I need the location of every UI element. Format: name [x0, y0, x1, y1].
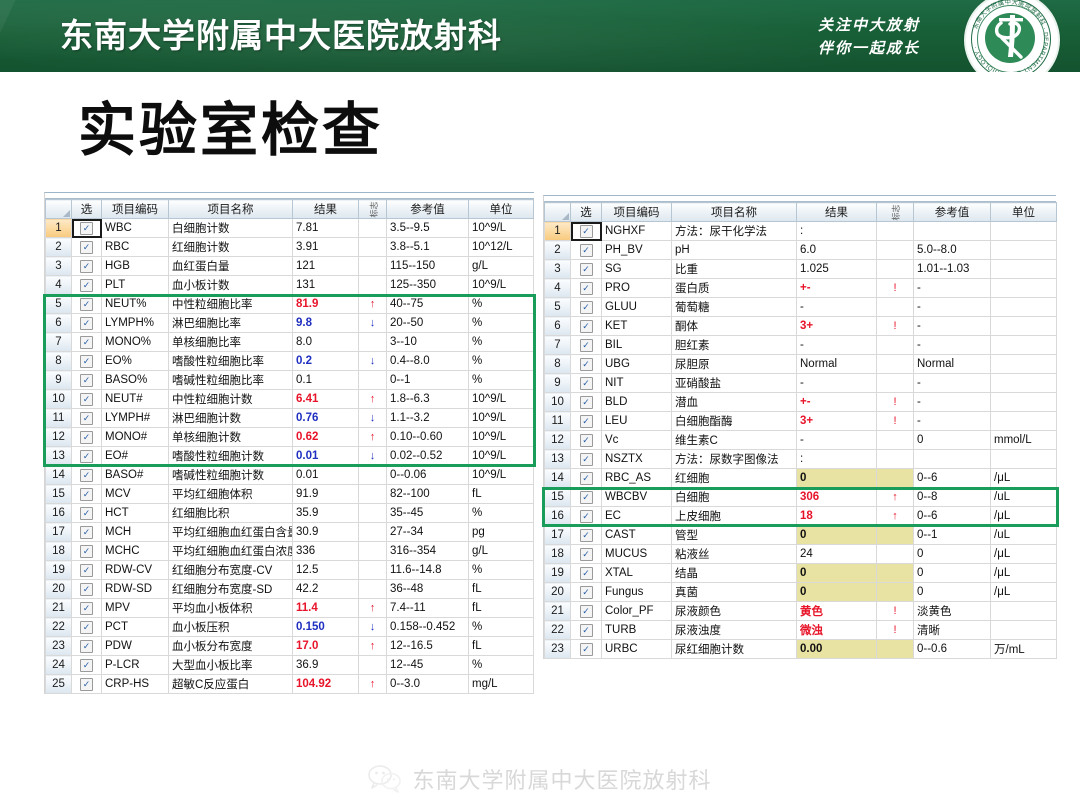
- cell-unit[interactable]: /uL: [991, 488, 1057, 507]
- cell-reference-range[interactable]: 0: [914, 564, 991, 583]
- row-number[interactable]: 10: [46, 390, 72, 409]
- cell-unit[interactable]: 10^9/L: [469, 447, 534, 466]
- row-checkbox[interactable]: ✓: [72, 219, 102, 238]
- cell-item-code[interactable]: RBC_AS: [602, 469, 672, 488]
- table-row[interactable]: 5✓GLUU葡萄糖--: [545, 298, 1057, 317]
- cell-item-code[interactable]: NEUT%: [102, 295, 169, 314]
- cell-item-name[interactable]: 红细胞: [672, 469, 797, 488]
- cell-unit[interactable]: [991, 298, 1057, 317]
- cell-flag[interactable]: [877, 241, 914, 260]
- cell-flag[interactable]: [877, 260, 914, 279]
- cell-result[interactable]: 131: [293, 276, 359, 295]
- row-number[interactable]: 7: [46, 333, 72, 352]
- cell-item-name[interactable]: 淋巴细胞比率: [169, 314, 293, 333]
- cell-unit[interactable]: pg: [469, 523, 534, 542]
- row-number[interactable]: 18: [545, 545, 571, 564]
- column-header-7[interactable]: 单位: [469, 200, 534, 219]
- cell-unit[interactable]: 10^12/L: [469, 238, 534, 257]
- cell-result[interactable]: 1.025: [797, 260, 877, 279]
- cell-reference-range[interactable]: 0--0.06: [387, 466, 469, 485]
- cell-result[interactable]: -: [797, 336, 877, 355]
- cell-result[interactable]: 0: [797, 526, 877, 545]
- cell-reference-range[interactable]: 27--34: [387, 523, 469, 542]
- table-row[interactable]: 16✓EC上皮细胞18↑0--6/μL: [545, 507, 1057, 526]
- cell-flag[interactable]: [359, 238, 387, 257]
- cell-unit[interactable]: fL: [469, 599, 534, 618]
- cell-item-code[interactable]: P-LCR: [102, 656, 169, 675]
- row-checkbox[interactable]: ✓: [72, 466, 102, 485]
- cell-flag[interactable]: ↓: [359, 409, 387, 428]
- cell-item-code[interactable]: EO#: [102, 447, 169, 466]
- cell-unit[interactable]: [991, 279, 1057, 298]
- cell-flag[interactable]: [359, 485, 387, 504]
- cell-reference-range[interactable]: 1.01--1.03: [914, 260, 991, 279]
- select-all-corner[interactable]: [545, 203, 571, 222]
- cell-result[interactable]: 6.0: [797, 241, 877, 260]
- cell-flag[interactable]: ↑: [359, 428, 387, 447]
- cell-reference-range[interactable]: 5.0--8.0: [914, 241, 991, 260]
- row-checkbox[interactable]: ✓: [571, 602, 602, 621]
- table-row[interactable]: 14✓RBC_AS红细胞00--6/μL: [545, 469, 1057, 488]
- row-number[interactable]: 19: [545, 564, 571, 583]
- row-number[interactable]: 4: [46, 276, 72, 295]
- cell-result[interactable]: 36.9: [293, 656, 359, 675]
- row-number[interactable]: 21: [545, 602, 571, 621]
- row-number[interactable]: 5: [46, 295, 72, 314]
- row-number[interactable]: 16: [46, 504, 72, 523]
- cell-item-name[interactable]: 管型: [672, 526, 797, 545]
- cell-item-code[interactable]: RDW-CV: [102, 561, 169, 580]
- cell-reference-range[interactable]: 0: [914, 545, 991, 564]
- cell-result[interactable]: 0.01: [293, 447, 359, 466]
- cell-result[interactable]: 黄色: [797, 602, 877, 621]
- cell-reference-range[interactable]: 3--10: [387, 333, 469, 352]
- cell-item-code[interactable]: Color_PF: [602, 602, 672, 621]
- cell-item-name[interactable]: 红细胞计数: [169, 238, 293, 257]
- table-row[interactable]: 10✓BLD潜血+-!-: [545, 393, 1057, 412]
- row-checkbox[interactable]: ✓: [72, 371, 102, 390]
- cell-flag[interactable]: ↑: [877, 507, 914, 526]
- row-checkbox[interactable]: ✓: [571, 317, 602, 336]
- cell-flag[interactable]: [877, 526, 914, 545]
- cell-item-code[interactable]: Fungus: [602, 583, 672, 602]
- cell-item-code[interactable]: BIL: [602, 336, 672, 355]
- row-checkbox[interactable]: ✓: [72, 390, 102, 409]
- cell-unit[interactable]: [991, 412, 1057, 431]
- cell-item-code[interactable]: EO%: [102, 352, 169, 371]
- cell-result[interactable]: 6.41: [293, 390, 359, 409]
- table-row[interactable]: 3✓SG比重1.0251.01--1.03: [545, 260, 1057, 279]
- row-number[interactable]: 23: [545, 640, 571, 659]
- row-number[interactable]: 22: [46, 618, 72, 637]
- cell-flag[interactable]: [359, 523, 387, 542]
- cell-result[interactable]: 12.5: [293, 561, 359, 580]
- cell-flag[interactable]: [359, 219, 387, 238]
- cell-reference-range[interactable]: 0--3.0: [387, 675, 469, 694]
- cell-result[interactable]: 306: [797, 488, 877, 507]
- row-checkbox[interactable]: ✓: [571, 393, 602, 412]
- row-number[interactable]: 20: [545, 583, 571, 602]
- cell-flag[interactable]: ↑: [359, 675, 387, 694]
- table-row[interactable]: 15✓MCV平均红细胞体积91.982--100fL: [46, 485, 534, 504]
- row-checkbox[interactable]: ✓: [571, 241, 602, 260]
- row-checkbox[interactable]: ✓: [72, 409, 102, 428]
- cell-item-code[interactable]: BLD: [602, 393, 672, 412]
- table-row[interactable]: 21✓Color_PF尿液颜色黄色!淡黄色: [545, 602, 1057, 621]
- cell-item-code[interactable]: NSZTX: [602, 450, 672, 469]
- cell-unit[interactable]: [991, 317, 1057, 336]
- cell-unit[interactable]: 10^9/L: [469, 409, 534, 428]
- table-row[interactable]: 13✓NSZTX方法：尿数字图像法:: [545, 450, 1057, 469]
- cell-unit[interactable]: %: [469, 314, 534, 333]
- cell-reference-range[interactable]: -: [914, 317, 991, 336]
- cell-unit[interactable]: [991, 355, 1057, 374]
- cell-result[interactable]: 104.92: [293, 675, 359, 694]
- row-number[interactable]: 3: [545, 260, 571, 279]
- cell-result[interactable]: +-: [797, 393, 877, 412]
- cell-flag[interactable]: [359, 580, 387, 599]
- table-row[interactable]: 2✓PH_BVpH6.05.0--8.0: [545, 241, 1057, 260]
- cell-result[interactable]: 3+: [797, 317, 877, 336]
- cell-item-name[interactable]: 嗜酸性粒细胞比率: [169, 352, 293, 371]
- cell-item-name[interactable]: 红细胞分布宽度-SD: [169, 580, 293, 599]
- cell-reference-range[interactable]: -: [914, 374, 991, 393]
- cell-reference-range[interactable]: 7.4--11: [387, 599, 469, 618]
- cell-flag[interactable]: [359, 466, 387, 485]
- row-checkbox[interactable]: ✓: [571, 640, 602, 659]
- cell-result[interactable]: 11.4: [293, 599, 359, 618]
- column-header-2[interactable]: 项目编码: [602, 203, 672, 222]
- row-checkbox[interactable]: ✓: [72, 238, 102, 257]
- select-all-corner[interactable]: [46, 200, 72, 219]
- cell-item-code[interactable]: MCHC: [102, 542, 169, 561]
- cell-result[interactable]: :: [797, 222, 877, 241]
- cell-flag[interactable]: ↑: [359, 637, 387, 656]
- table-row[interactable]: 8✓EO%嗜酸性粒细胞比率0.2↓0.4--8.0%: [46, 352, 534, 371]
- cell-item-code[interactable]: NIT: [602, 374, 672, 393]
- cell-item-code[interactable]: MONO%: [102, 333, 169, 352]
- cell-item-name[interactable]: 维生素C: [672, 431, 797, 450]
- cell-result[interactable]: -: [797, 374, 877, 393]
- table-row[interactable]: 23✓URBC尿红细胞计数0.000--0.6万/mL: [545, 640, 1057, 659]
- cell-unit[interactable]: [991, 336, 1057, 355]
- row-checkbox[interactable]: ✓: [571, 621, 602, 640]
- table-row[interactable]: 23✓PDW血小板分布宽度17.0↑12--16.5fL: [46, 637, 534, 656]
- cell-item-name[interactable]: 白细胞: [672, 488, 797, 507]
- table-row[interactable]: 17✓MCH平均红细胞血红蛋白含量30.927--34pg: [46, 523, 534, 542]
- cell-result[interactable]: 91.9: [293, 485, 359, 504]
- cell-item-name[interactable]: 胆红素: [672, 336, 797, 355]
- cell-result[interactable]: 7.81: [293, 219, 359, 238]
- cell-result[interactable]: 35.9: [293, 504, 359, 523]
- cell-reference-range[interactable]: -: [914, 336, 991, 355]
- cell-result[interactable]: 0.150: [293, 618, 359, 637]
- cell-result[interactable]: 0: [797, 469, 877, 488]
- cell-item-name[interactable]: 血小板压积: [169, 618, 293, 637]
- cell-flag[interactable]: !: [877, 279, 914, 298]
- cell-unit[interactable]: mmol/L: [991, 431, 1057, 450]
- table-row[interactable]: 25✓CRP-HS超敏C反应蛋白104.92↑0--3.0mg/L: [46, 675, 534, 694]
- row-number[interactable]: 24: [46, 656, 72, 675]
- cell-reference-range[interactable]: 清晰: [914, 621, 991, 640]
- row-checkbox[interactable]: ✓: [571, 336, 602, 355]
- cell-item-code[interactable]: CRP-HS: [102, 675, 169, 694]
- cell-item-name[interactable]: 尿液浊度: [672, 621, 797, 640]
- cell-flag[interactable]: !: [877, 317, 914, 336]
- row-checkbox[interactable]: ✓: [571, 526, 602, 545]
- cell-result[interactable]: 0.01: [293, 466, 359, 485]
- cell-result[interactable]: 81.9: [293, 295, 359, 314]
- cell-reference-range[interactable]: 0.158--0.452: [387, 618, 469, 637]
- cell-item-code[interactable]: PLT: [102, 276, 169, 295]
- cell-reference-range[interactable]: 0.10--0.60: [387, 428, 469, 447]
- cell-reference-range[interactable]: 82--100: [387, 485, 469, 504]
- row-checkbox[interactable]: ✓: [72, 675, 102, 694]
- row-checkbox[interactable]: ✓: [72, 561, 102, 580]
- row-number[interactable]: 14: [545, 469, 571, 488]
- cell-flag[interactable]: ↓: [359, 447, 387, 466]
- row-number[interactable]: 13: [545, 450, 571, 469]
- cell-item-code[interactable]: EC: [602, 507, 672, 526]
- table-row[interactable]: 18✓MUCUS粘液丝240/μL: [545, 545, 1057, 564]
- cell-flag[interactable]: [359, 561, 387, 580]
- cell-unit[interactable]: fL: [469, 485, 534, 504]
- row-checkbox[interactable]: ✓: [571, 374, 602, 393]
- cell-item-name[interactable]: 蛋白质: [672, 279, 797, 298]
- row-checkbox[interactable]: ✓: [571, 412, 602, 431]
- cell-result[interactable]: 3.91: [293, 238, 359, 257]
- column-header-6[interactable]: 参考值: [387, 200, 469, 219]
- cell-result[interactable]: 8.0: [293, 333, 359, 352]
- row-checkbox[interactable]: ✓: [72, 295, 102, 314]
- cell-result[interactable]: 微浊: [797, 621, 877, 640]
- cell-item-code[interactable]: GLUU: [602, 298, 672, 317]
- cell-unit[interactable]: 10^9/L: [469, 276, 534, 295]
- row-checkbox[interactable]: ✓: [72, 314, 102, 333]
- cell-result[interactable]: 18: [797, 507, 877, 526]
- cell-unit[interactable]: [991, 450, 1057, 469]
- cell-unit[interactable]: /μL: [991, 583, 1057, 602]
- cell-flag[interactable]: [359, 542, 387, 561]
- cell-item-code[interactable]: MCV: [102, 485, 169, 504]
- cell-flag[interactable]: [877, 640, 914, 659]
- cell-result[interactable]: 30.9: [293, 523, 359, 542]
- row-checkbox[interactable]: ✓: [72, 257, 102, 276]
- cell-item-code[interactable]: KET: [602, 317, 672, 336]
- row-number[interactable]: 5: [545, 298, 571, 317]
- cell-flag[interactable]: ↑: [877, 488, 914, 507]
- cell-flag[interactable]: ↑: [359, 599, 387, 618]
- cell-item-code[interactable]: CAST: [602, 526, 672, 545]
- table-row[interactable]: 24✓P-LCR大型血小板比率36.912--45%: [46, 656, 534, 675]
- table-row[interactable]: 14✓BASO#嗜碱性粒细胞计数0.010--0.0610^9/L: [46, 466, 534, 485]
- row-checkbox[interactable]: ✓: [72, 504, 102, 523]
- cell-item-code[interactable]: MPV: [102, 599, 169, 618]
- table-row[interactable]: 22✓PCT血小板压积0.150↓0.158--0.452%: [46, 618, 534, 637]
- row-number[interactable]: 15: [545, 488, 571, 507]
- cell-reference-range[interactable]: 0--8: [914, 488, 991, 507]
- table-row[interactable]: 4✓PLT血小板计数131125--35010^9/L: [46, 276, 534, 295]
- column-header-5[interactable]: 标志: [359, 200, 387, 219]
- cell-unit[interactable]: [991, 621, 1057, 640]
- cell-item-code[interactable]: BASO%: [102, 371, 169, 390]
- table-row[interactable]: 22✓TURB尿液浊度微浊!清晰: [545, 621, 1057, 640]
- cell-item-name[interactable]: 单核细胞比率: [169, 333, 293, 352]
- cell-reference-range[interactable]: 3.5--9.5: [387, 219, 469, 238]
- row-number[interactable]: 8: [545, 355, 571, 374]
- column-header-5[interactable]: 标志: [877, 203, 914, 222]
- cell-unit[interactable]: %: [469, 656, 534, 675]
- table-row[interactable]: 9✓NIT亚硝酸盐--: [545, 374, 1057, 393]
- row-checkbox[interactable]: ✓: [72, 276, 102, 295]
- cell-reference-range[interactable]: 36--48: [387, 580, 469, 599]
- cell-flag[interactable]: [877, 222, 914, 241]
- cell-unit[interactable]: /uL: [991, 526, 1057, 545]
- cell-unit[interactable]: mg/L: [469, 675, 534, 694]
- cell-flag[interactable]: ↓: [359, 618, 387, 637]
- table-row[interactable]: 6✓KET酮体3+!-: [545, 317, 1057, 336]
- cell-flag[interactable]: ↑: [359, 390, 387, 409]
- cell-item-name[interactable]: 嗜碱性粒细胞计数: [169, 466, 293, 485]
- cell-item-name[interactable]: 方法：尿干化学法: [672, 222, 797, 241]
- row-number[interactable]: 19: [46, 561, 72, 580]
- cell-item-name[interactable]: 血小板分布宽度: [169, 637, 293, 656]
- row-checkbox[interactable]: ✓: [72, 637, 102, 656]
- cell-item-code[interactable]: PRO: [602, 279, 672, 298]
- cell-result[interactable]: 42.2: [293, 580, 359, 599]
- cell-item-code[interactable]: XTAL: [602, 564, 672, 583]
- cell-item-code[interactable]: SG: [602, 260, 672, 279]
- cell-item-name[interactable]: 血小板计数: [169, 276, 293, 295]
- cell-flag[interactable]: [877, 583, 914, 602]
- cell-unit[interactable]: %: [469, 352, 534, 371]
- cell-reference-range[interactable]: -: [914, 279, 991, 298]
- row-checkbox[interactable]: ✓: [72, 656, 102, 675]
- cell-reference-range[interactable]: Normal: [914, 355, 991, 374]
- cell-reference-range[interactable]: 11.6--14.8: [387, 561, 469, 580]
- cell-reference-range[interactable]: 3.8--5.1: [387, 238, 469, 257]
- cell-reference-range[interactable]: 1.1--3.2: [387, 409, 469, 428]
- column-header-1[interactable]: 选: [72, 200, 102, 219]
- cell-reference-range[interactable]: -: [914, 393, 991, 412]
- cell-unit[interactable]: /μL: [991, 564, 1057, 583]
- cell-result[interactable]: :: [797, 450, 877, 469]
- cell-reference-range[interactable]: 0--0.6: [914, 640, 991, 659]
- row-checkbox[interactable]: ✓: [72, 333, 102, 352]
- cell-reference-range[interactable]: 0.02--0.52: [387, 447, 469, 466]
- column-header-4[interactable]: 结果: [293, 200, 359, 219]
- cell-unit[interactable]: 10^9/L: [469, 219, 534, 238]
- cell-flag[interactable]: !: [877, 412, 914, 431]
- cell-unit[interactable]: %: [469, 561, 534, 580]
- cell-item-name[interactable]: 尿胆原: [672, 355, 797, 374]
- table-row[interactable]: 1✓NGHXF方法：尿干化学法:: [545, 222, 1057, 241]
- row-number[interactable]: 6: [46, 314, 72, 333]
- row-number[interactable]: 12: [545, 431, 571, 450]
- table-row[interactable]: 1✓WBC白细胞计数7.813.5--9.510^9/L: [46, 219, 534, 238]
- row-number[interactable]: 4: [545, 279, 571, 298]
- cell-result[interactable]: 0.76: [293, 409, 359, 428]
- cell-flag[interactable]: !: [877, 602, 914, 621]
- cell-result[interactable]: +-: [797, 279, 877, 298]
- cell-result[interactable]: 336: [293, 542, 359, 561]
- column-header-3[interactable]: 项目名称: [169, 200, 293, 219]
- row-number[interactable]: 1: [545, 222, 571, 241]
- row-checkbox[interactable]: ✓: [571, 583, 602, 602]
- cell-item-name[interactable]: 白细胞酯酶: [672, 412, 797, 431]
- cell-unit[interactable]: 万/mL: [991, 640, 1057, 659]
- row-number[interactable]: 17: [545, 526, 571, 545]
- cell-item-name[interactable]: 淋巴细胞计数: [169, 409, 293, 428]
- cell-item-name[interactable]: 尿液颜色: [672, 602, 797, 621]
- table-row[interactable]: 6✓LYMPH%淋巴细胞比率9.8↓20--50%: [46, 314, 534, 333]
- table-row[interactable]: 13✓EO#嗜酸性粒细胞计数0.01↓0.02--0.5210^9/L: [46, 447, 534, 466]
- column-header-6[interactable]: 参考值: [914, 203, 991, 222]
- cell-reference-range[interactable]: 0--1: [387, 371, 469, 390]
- cell-item-code[interactable]: NGHXF: [602, 222, 672, 241]
- row-number[interactable]: 1: [46, 219, 72, 238]
- column-header-2[interactable]: 项目编码: [102, 200, 169, 219]
- cell-unit[interactable]: %: [469, 333, 534, 352]
- table-row[interactable]: 19✓RDW-CV红细胞分布宽度-CV12.511.6--14.8%: [46, 561, 534, 580]
- row-checkbox[interactable]: ✓: [72, 352, 102, 371]
- table-row[interactable]: 9✓BASO%嗜碱性粒细胞比率0.10--1%: [46, 371, 534, 390]
- cell-reference-range[interactable]: [914, 450, 991, 469]
- cell-reference-range[interactable]: 0--6: [914, 507, 991, 526]
- cell-unit[interactable]: [991, 241, 1057, 260]
- cell-unit[interactable]: 10^9/L: [469, 428, 534, 447]
- cell-item-code[interactable]: MUCUS: [602, 545, 672, 564]
- row-checkbox[interactable]: ✓: [571, 355, 602, 374]
- cell-unit[interactable]: %: [469, 295, 534, 314]
- cell-item-name[interactable]: 白细胞计数: [169, 219, 293, 238]
- cell-item-name[interactable]: 粘液丝: [672, 545, 797, 564]
- cell-item-code[interactable]: MONO#: [102, 428, 169, 447]
- cell-result[interactable]: 0.2: [293, 352, 359, 371]
- cell-item-name[interactable]: 比重: [672, 260, 797, 279]
- cell-item-code[interactable]: UBG: [602, 355, 672, 374]
- row-checkbox[interactable]: ✓: [571, 222, 602, 241]
- row-checkbox[interactable]: ✓: [72, 618, 102, 637]
- table-row[interactable]: 17✓CAST管型00--1/uL: [545, 526, 1057, 545]
- row-number[interactable]: 13: [46, 447, 72, 466]
- cell-flag[interactable]: [877, 336, 914, 355]
- row-checkbox[interactable]: ✓: [72, 447, 102, 466]
- cell-result[interactable]: 9.8: [293, 314, 359, 333]
- table-row[interactable]: 3✓HGB血红蛋白量121115--150g/L: [46, 257, 534, 276]
- cell-item-name[interactable]: 平均血小板体积: [169, 599, 293, 618]
- cell-item-name[interactable]: 平均红细胞血红蛋白含量: [169, 523, 293, 542]
- cell-unit[interactable]: /μL: [991, 469, 1057, 488]
- cell-item-name[interactable]: 嗜酸性粒细胞计数: [169, 447, 293, 466]
- cell-flag[interactable]: [359, 333, 387, 352]
- row-checkbox[interactable]: ✓: [72, 599, 102, 618]
- table-row[interactable]: 19✓XTAL结晶00/μL: [545, 564, 1057, 583]
- cell-result[interactable]: 0.00: [797, 640, 877, 659]
- cell-result[interactable]: 0.1: [293, 371, 359, 390]
- cell-reference-range[interactable]: 0: [914, 583, 991, 602]
- cell-reference-range[interactable]: 125--350: [387, 276, 469, 295]
- cell-unit[interactable]: g/L: [469, 542, 534, 561]
- cell-item-name[interactable]: pH: [672, 241, 797, 260]
- row-number[interactable]: 2: [545, 241, 571, 260]
- cell-item-name[interactable]: 中性粒细胞比率: [169, 295, 293, 314]
- row-number[interactable]: 11: [545, 412, 571, 431]
- table-row[interactable]: 11✓LYMPH#淋巴细胞计数0.76↓1.1--3.210^9/L: [46, 409, 534, 428]
- table-row[interactable]: 18✓MCHC平均红细胞血红蛋白浓度336316--354g/L: [46, 542, 534, 561]
- cell-unit[interactable]: fL: [469, 637, 534, 656]
- cell-result[interactable]: 24: [797, 545, 877, 564]
